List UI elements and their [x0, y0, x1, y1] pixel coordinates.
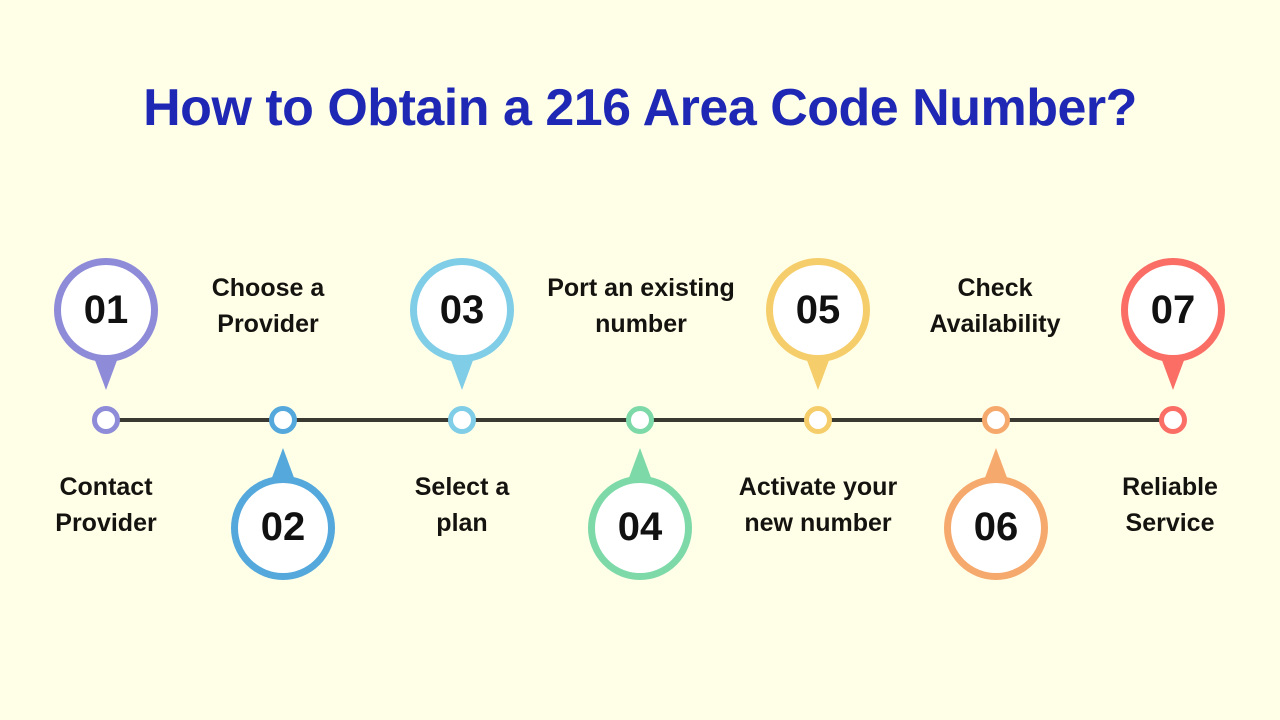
step-label-line1: Contact — [16, 469, 196, 505]
step-label: Choose aProvider — [178, 270, 358, 342]
timeline-dot-05[interactable] — [804, 406, 832, 434]
timeline-dot-07[interactable] — [1159, 406, 1187, 434]
step-marker-05[interactable]: 05 — [766, 258, 870, 390]
step-label: Port an existingnumber — [530, 270, 752, 342]
step-label-line1: Activate your — [707, 469, 929, 505]
step-label-line2: plan — [372, 505, 552, 541]
step-marker-03[interactable]: 03 — [410, 258, 514, 390]
step-marker-02[interactable]: 02 — [231, 448, 335, 580]
step-marker-07[interactable]: 07 — [1121, 258, 1225, 390]
timeline-dot-01[interactable] — [92, 406, 120, 434]
step-label-line1: Port an existing — [530, 270, 752, 306]
timeline-dot-04[interactable] — [626, 406, 654, 434]
step-number: 03 — [410, 288, 514, 333]
step-label: CheckAvailability — [905, 270, 1085, 342]
step-label: ContactProvider — [16, 469, 196, 541]
step-label-line1: Select a — [372, 469, 552, 505]
step-marker-06[interactable]: 06 — [944, 448, 1048, 580]
step-marker-01[interactable]: 01 — [54, 258, 158, 390]
step-marker-04[interactable]: 04 — [588, 448, 692, 580]
page-title: How to Obtain a 216 Area Code Number? — [0, 78, 1280, 138]
step-number: 04 — [588, 505, 692, 550]
timeline-dot-02[interactable] — [269, 406, 297, 434]
step-label-line2: Availability — [905, 306, 1085, 342]
step-number: 01 — [54, 288, 158, 333]
timeline-dot-03[interactable] — [448, 406, 476, 434]
step-label-line2: Provider — [16, 505, 196, 541]
step-label: ReliableService — [1080, 469, 1260, 541]
step-label-line2: new number — [707, 505, 929, 541]
step-number: 02 — [231, 505, 335, 550]
step-number: 05 — [766, 288, 870, 333]
step-label: Select aplan — [372, 469, 552, 541]
step-label-line2: Provider — [178, 306, 358, 342]
timeline-dot-06[interactable] — [982, 406, 1010, 434]
step-label-line1: Reliable — [1080, 469, 1260, 505]
step-label: Activate yournew number — [707, 469, 929, 541]
infographic-canvas: How to Obtain a 216 Area Code Number? 01… — [0, 0, 1280, 720]
step-label-line2: Service — [1080, 505, 1260, 541]
step-label-line2: number — [530, 306, 752, 342]
step-number: 07 — [1121, 288, 1225, 333]
step-number: 06 — [944, 505, 1048, 550]
step-label-line1: Check — [905, 270, 1085, 306]
step-label-line1: Choose a — [178, 270, 358, 306]
